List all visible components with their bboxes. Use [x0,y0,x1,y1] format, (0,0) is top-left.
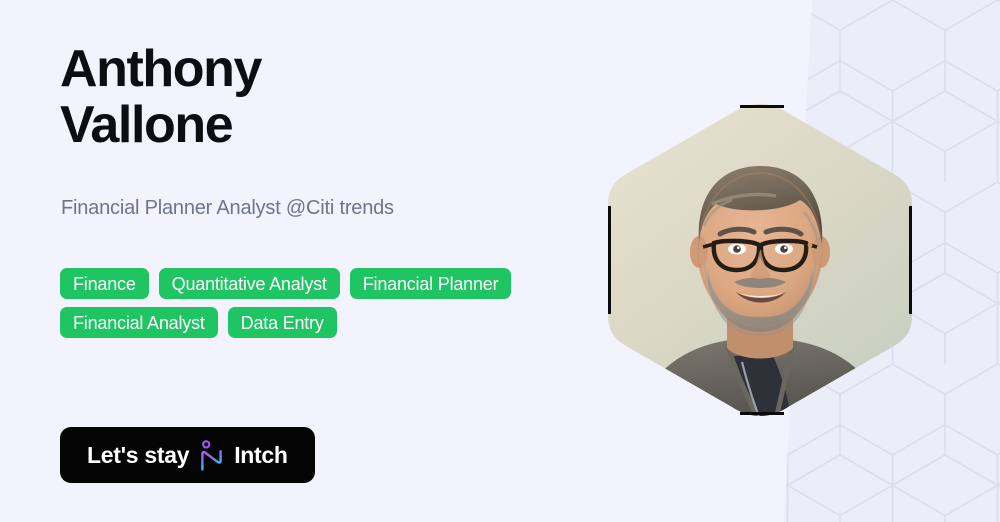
profile-card: Anthony Vallone Financial Planner Analys… [0,0,1000,522]
skill-tag[interactable]: Data Entry [228,307,337,338]
skill-tag[interactable]: Financial Analyst [60,307,218,338]
page-title: Anthony Vallone [60,42,520,153]
cta-brand: Intch [234,444,287,467]
skill-tag[interactable]: Financial Planner [350,268,512,299]
skill-tag[interactable]: Quantitative Analyst [159,268,340,299]
profile-headline: Financial Planner Analyst @Citi trends [61,197,394,220]
skill-tag[interactable]: Finance [60,268,149,299]
cta-label: Let's stay [87,444,189,467]
skill-tag-list: FinanceQuantitative AnalystFinancial Pla… [60,268,530,338]
avatar [604,100,916,420]
lets-stay-intch-button[interactable]: Let's stay Intch [60,427,315,483]
intch-n-logo-icon [198,440,225,472]
